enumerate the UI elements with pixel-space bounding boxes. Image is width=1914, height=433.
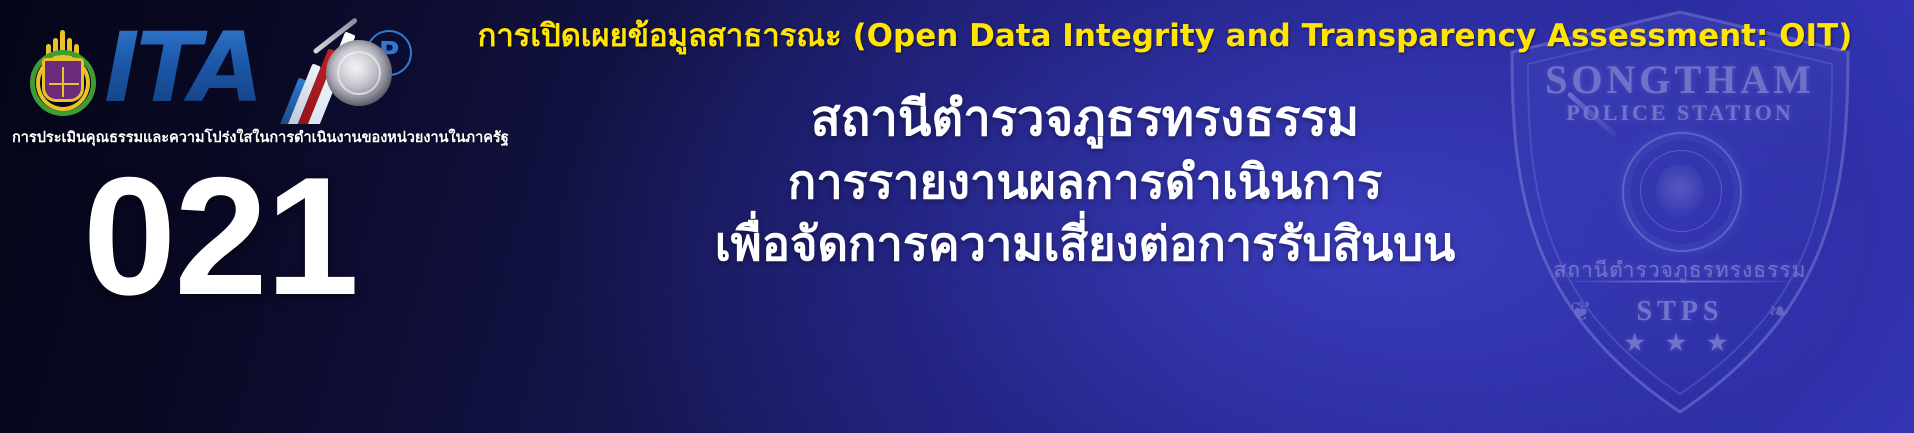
indicator-number: 021 [30, 152, 410, 320]
emblem-shield-icon [42, 58, 84, 102]
watermark-stars: ★ ★ ★ [1504, 330, 1856, 356]
mace-handle-icon [314, 16, 360, 62]
ita-logo-block: ITA P การประเมินคุณธรรมและความโปร่งใสในก… [12, 8, 408, 148]
station-name: สถานีตำรวจภูธรทรงธรรม [420, 86, 1750, 152]
heading-group: สถานีตำรวจภูธรทรงธรรม การรายงานผลการดำเน… [420, 86, 1750, 276]
laurel-left-icon: ❦ [1570, 296, 1592, 327]
heading-line-1: การรายงานผลการดำเนินการ [420, 152, 1750, 214]
heading-line-2: เพื่อจัดการความเสี่ยงต่อการรับสินบน [420, 214, 1750, 276]
ita-letters: ITA [104, 20, 260, 116]
oit-title: การเปิดเผยข้อมูลสาธารณะ (Open Data Integ… [420, 18, 1910, 54]
shield-glow [1553, 280, 1806, 283]
watermark-abbrev: STPS [1504, 296, 1856, 328]
oit-banner: SONGTHAM POLICE STATION สถานีตำรวจภูธรทร… [0, 0, 1914, 433]
laurel-right-icon: ❧ [1768, 296, 1790, 327]
thai-government-emblem-icon [26, 24, 100, 120]
thai-royal-mace-emblem-icon [312, 14, 398, 118]
